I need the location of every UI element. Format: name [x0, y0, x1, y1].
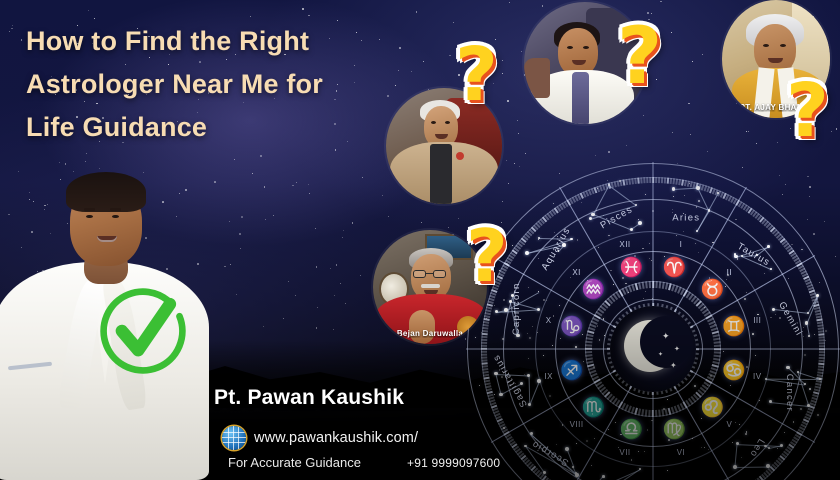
question-badge-3: ?: [786, 74, 829, 148]
question-badge-2: ?: [617, 18, 662, 96]
headline-line-2: Astrologer Near Me for: [26, 63, 426, 106]
green-check-circle-icon: [95, 283, 191, 379]
zodiac-wheel: ♈♉♊♋♌♍♎♏♐♑♒♓IIIIIIIVVVIVIIVIIIIXXXIXIIAr…: [466, 162, 840, 480]
globe-icon: [222, 426, 246, 450]
headline-line-1: How to Find the Right: [26, 20, 426, 63]
website-row[interactable]: www.pawankaushik.com/: [222, 426, 418, 450]
phone-number[interactable]: +91 9999097600: [407, 456, 500, 470]
question-badge-1: ?: [455, 38, 498, 112]
wheel-shadow-overlay: [466, 162, 840, 480]
question-badge-4: ?: [466, 220, 508, 292]
headline-line-3: Life Guidance: [26, 106, 426, 149]
page-title: How to Find the Right Astrologer Near Me…: [26, 20, 426, 149]
brand-name: Pt. Pawan Kaushik: [214, 386, 404, 410]
portrait-caption: Bejan Daruwalla: [373, 329, 487, 338]
website-url[interactable]: www.pawankaushik.com/: [254, 430, 418, 446]
poster-canvas: ♈♉♊♋♌♍♎♏♐♑♒♓IIIIIIIVVVIVIIVIIIIXXXIXIIAr…: [0, 0, 840, 480]
tagline: For Accurate Guidance: [228, 455, 361, 470]
